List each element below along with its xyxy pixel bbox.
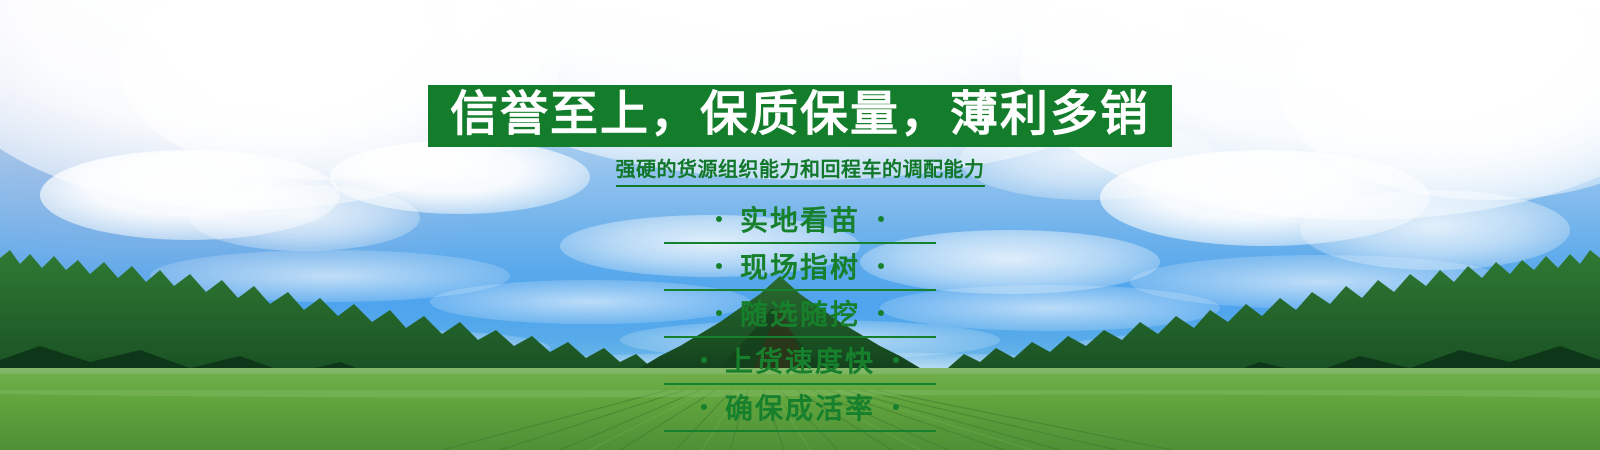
feature-list: 实地看苗 现场指树 随选随挖 上货速度快 确保成活率 <box>664 197 936 432</box>
bullet-dot-icon <box>701 357 707 363</box>
bullet-dot-icon <box>701 404 707 410</box>
list-item: 实地看苗 <box>664 197 936 244</box>
bullet-dot-icon <box>878 216 884 222</box>
bullet-dot-icon <box>893 357 899 363</box>
title-banner-bar: 信誉至上，保质保量，薄利多销 <box>428 85 1172 147</box>
banner-subtitle: 强硬的货源组织能力和回程车的调配能力 <box>616 153 985 187</box>
feature-label: 上货速度快 <box>725 340 875 380</box>
promo-banner: 信誉至上，保质保量，薄利多销 强硬的货源组织能力和回程车的调配能力 实地看苗 现… <box>0 0 1600 450</box>
feature-label: 实地看苗 <box>740 199 860 239</box>
bullet-dot-icon <box>716 216 722 222</box>
feature-label: 现场指树 <box>740 246 860 286</box>
list-item: 确保成活率 <box>664 385 936 432</box>
feature-label: 确保成活率 <box>725 387 875 427</box>
bullet-dot-icon <box>893 404 899 410</box>
feature-label: 随选随挖 <box>740 293 860 333</box>
bullet-dot-icon <box>878 263 884 269</box>
bullet-dot-icon <box>716 310 722 316</box>
list-item: 随选随挖 <box>664 291 936 338</box>
list-item: 上货速度快 <box>664 338 936 385</box>
bullet-dot-icon <box>878 310 884 316</box>
banner-content: 信誉至上，保质保量，薄利多销 强硬的货源组织能力和回程车的调配能力 实地看苗 现… <box>0 0 1600 450</box>
list-item: 现场指树 <box>664 244 936 291</box>
page-title: 信誉至上，保质保量，薄利多销 <box>450 90 1150 138</box>
bullet-dot-icon <box>716 263 722 269</box>
